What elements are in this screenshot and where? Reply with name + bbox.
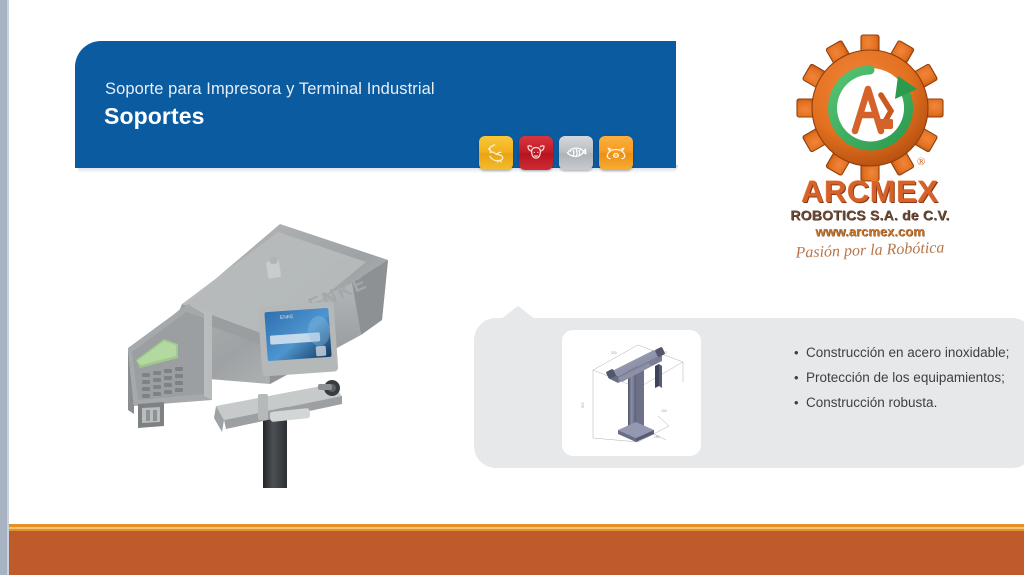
arcmex-logo: ® ARCMEX ROBOTICS S.A. de C.V. www.arcme… bbox=[780, 30, 960, 270]
panel-notch-pointer bbox=[501, 306, 535, 319]
bullet-text: Construcción en acero inoxidable; bbox=[806, 342, 1009, 363]
bullet-text: Construcción robusta. bbox=[806, 392, 937, 413]
svg-text:150: 150 bbox=[661, 409, 667, 413]
bullet-marker: • bbox=[794, 392, 806, 413]
slide-canvas: Soporte para Impresora y Terminal Indust… bbox=[0, 0, 1024, 575]
fish-icon[interactable] bbox=[559, 136, 593, 170]
feature-bullet-list: • Construcción en acero inoxidable; • Pr… bbox=[794, 342, 1024, 417]
bullet-marker: • bbox=[794, 342, 806, 363]
bullet-text: Protección de los equipamientos; bbox=[806, 367, 1005, 388]
svg-text:320: 320 bbox=[611, 351, 617, 355]
svg-text:900: 900 bbox=[581, 402, 585, 408]
list-item: • Protección de los equipamientos; bbox=[794, 367, 1024, 388]
page-title: Soportes bbox=[104, 103, 204, 130]
bullet-marker: • bbox=[794, 367, 806, 388]
svg-text:ENKE: ENKE bbox=[280, 314, 295, 321]
product-photo: ENKE bbox=[120, 188, 420, 488]
logo-website-url[interactable]: www.arcmex.com bbox=[780, 224, 960, 239]
svg-text:180: 180 bbox=[654, 435, 660, 439]
pig-icon[interactable] bbox=[599, 136, 633, 170]
list-item: • Construcción en acero inoxidable; bbox=[794, 342, 1024, 363]
footer-band bbox=[9, 531, 1024, 575]
chicken-icon[interactable] bbox=[479, 136, 513, 170]
species-icon-group bbox=[479, 136, 633, 170]
bull-icon[interactable] bbox=[519, 136, 553, 170]
left-edge-strip bbox=[0, 0, 9, 575]
info-panel: 320 220 900 150 180 bbox=[474, 318, 1024, 468]
logo-tagline: Pasión por la Robótica bbox=[780, 239, 961, 263]
footer-accent-band bbox=[9, 524, 1024, 531]
header-subtitle: Soporte para Impresora y Terminal Indust… bbox=[105, 80, 435, 99]
cad-drawing-card: 320 220 900 150 180 bbox=[562, 330, 701, 456]
registered-trademark-icon: ® bbox=[917, 156, 925, 168]
logo-wordmark: ARCMEX bbox=[780, 174, 960, 210]
logo-subline: ROBOTICS S.A. de C.V. bbox=[780, 207, 960, 223]
list-item: • Construcción robusta. bbox=[794, 392, 1024, 413]
